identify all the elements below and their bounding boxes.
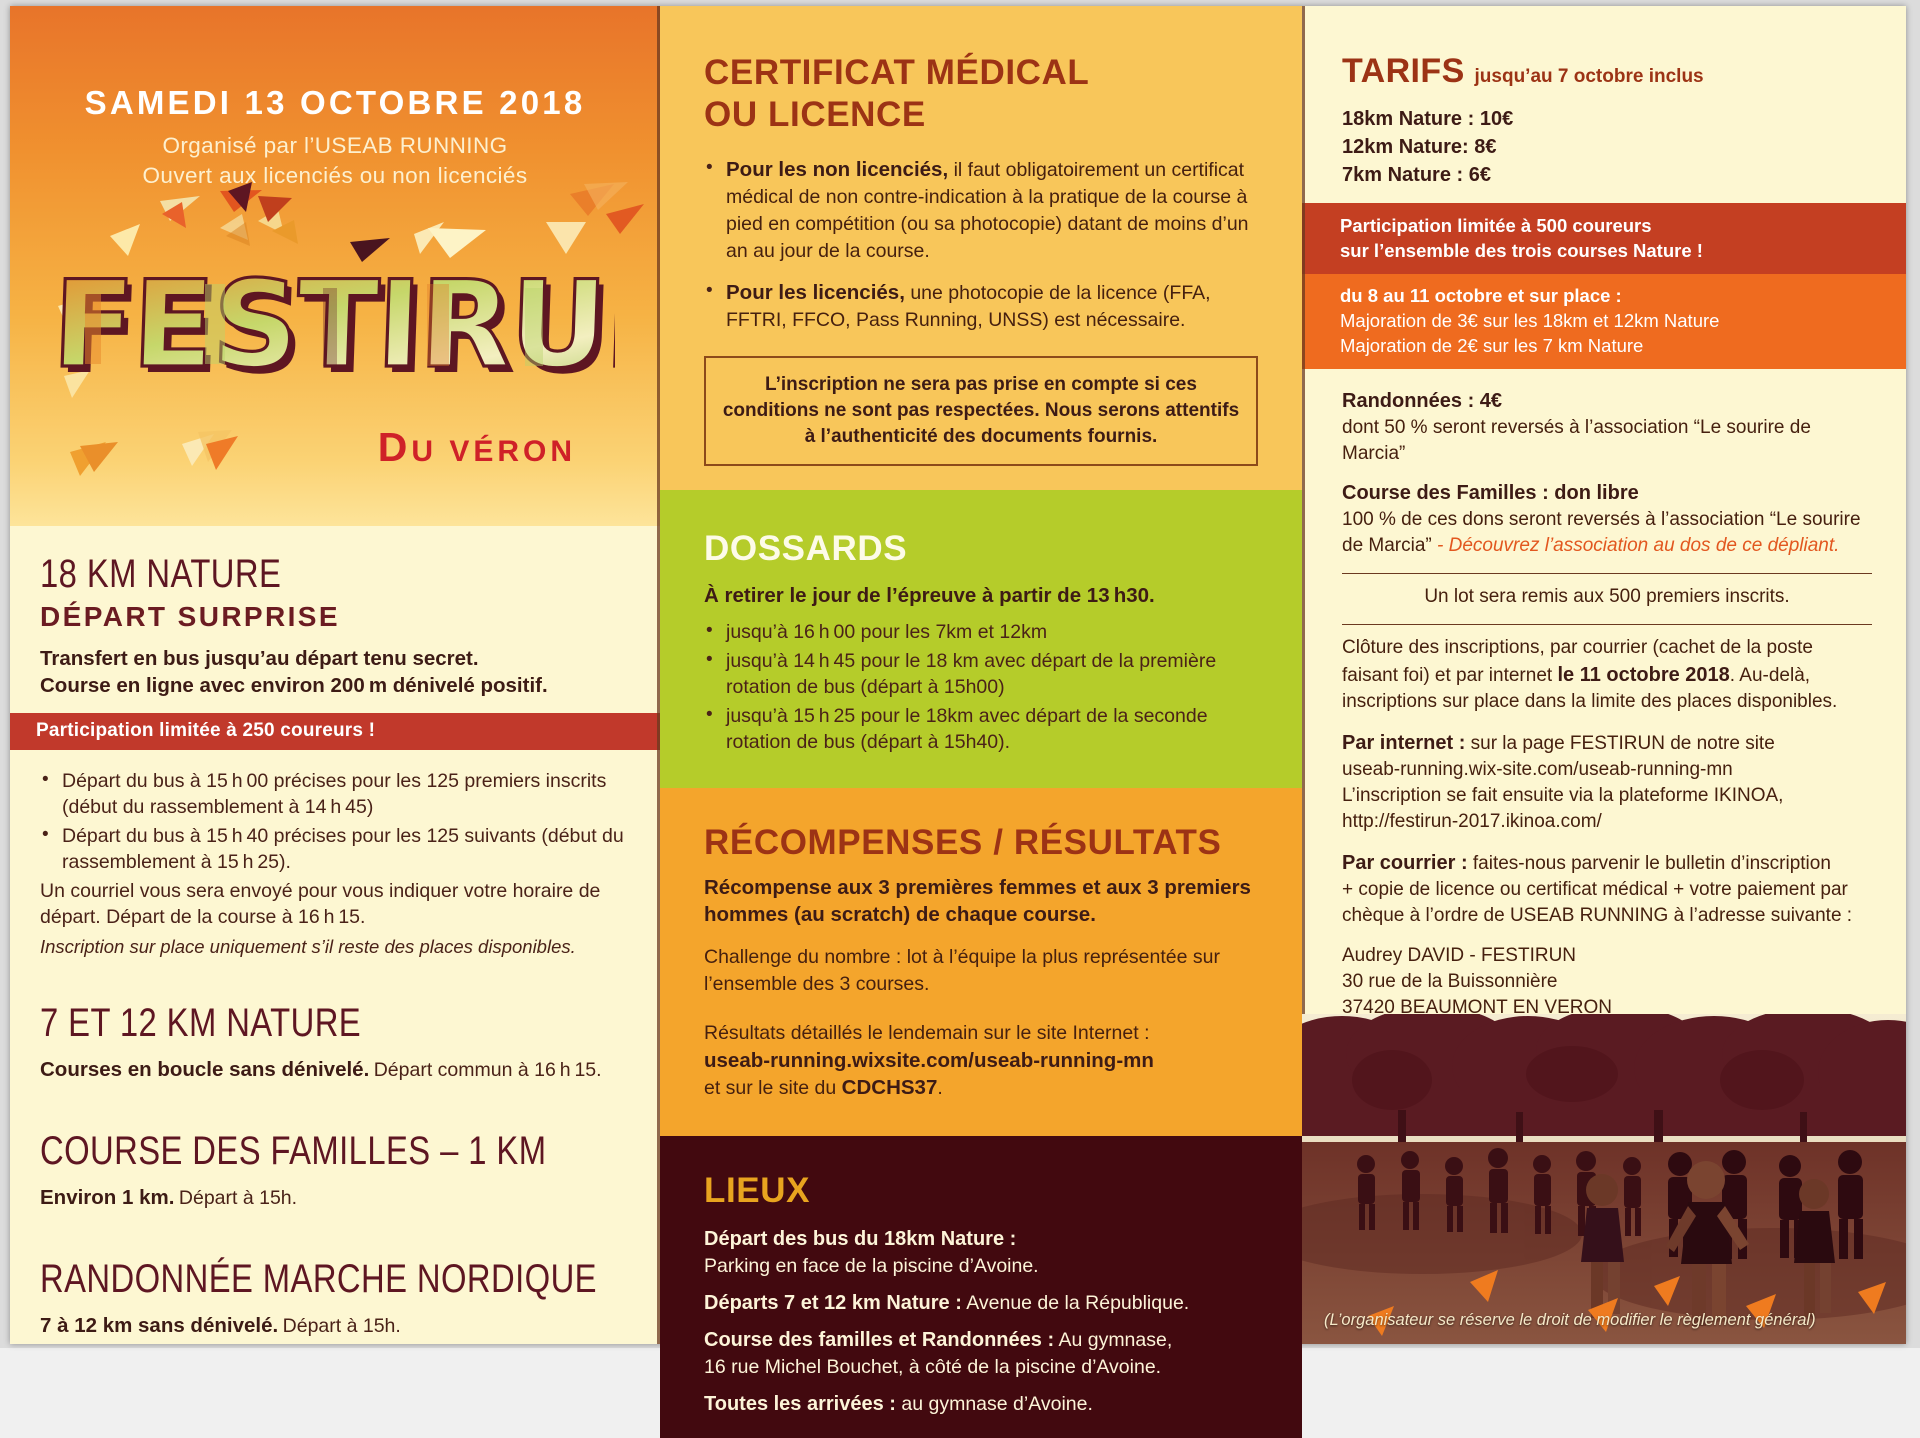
- address-name: Audrey DAVID - FESTIRUN: [1342, 943, 1872, 969]
- race-randonnee-bold: 7 à 12 km sans dénivelé.: [40, 1314, 278, 1337]
- race-title-7-12km: 7 ET 12 KM NATURE: [40, 1001, 524, 1046]
- tarifs-prices: 18km Nature : 10€ 12km Nature: 8€ 7km Na…: [1342, 105, 1868, 189]
- race-18km-italic: Inscription sur place uniquement s’il re…: [40, 934, 626, 959]
- list-item: Pour les non licenciés, il faut obligato…: [704, 156, 1258, 265]
- tarifs-title-note: jusqu’au 7 octobre inclus: [1475, 66, 1704, 87]
- majoration-line1: du 8 au 11 octobre et sur place :: [1340, 283, 1906, 308]
- lieux-2-rest: Avenue de la République.: [962, 1292, 1189, 1314]
- rando-price-note: dont 50 % seront reversés à l’associatio…: [1342, 415, 1872, 467]
- recompenses-title: RÉCOMPENSES / RÉSULTATS: [704, 822, 1258, 864]
- race-block-randonnee: RANDONNÉE MARCHE NORDIQUE 7 à 12 km sans…: [10, 1211, 660, 1339]
- race-block-familles: COURSE DES FAMILLES – 1 KM Environ 1 km.…: [10, 1083, 660, 1211]
- section-certificat-medical: CERTIFICAT MÉDICAL OU LICENCE Pour les n…: [660, 6, 1302, 490]
- race-title-randonnee: RANDONNÉE MARCHE NORDIQUE: [40, 1257, 524, 1302]
- list-item: jusqu’à 14 h 45 pour le 18 km avec dépar…: [704, 648, 1258, 700]
- lieux-4-rest: au gymnase d’Avoine.: [896, 1393, 1093, 1415]
- internet-url-1[interactable]: useab-running.wix-site.com/useab-running…: [1342, 757, 1872, 783]
- recompenses-challenge: Challenge du nombre : lot à l’équipe la …: [704, 944, 1258, 998]
- lieux-item-1: Départ des bus du 18km Nature : Parking …: [704, 1226, 1258, 1280]
- certificat-b1-lead: Pour les non licenciés,: [726, 158, 948, 181]
- majoration-band: du 8 au 11 octobre et sur place : Majora…: [1302, 274, 1906, 369]
- certificat-title-line1: CERTIFICAT MÉDICAL: [704, 53, 1089, 92]
- recompenses-tail-bold: CDCHS37: [842, 1076, 938, 1099]
- race-title-familles: COURSE DES FAMILLES – 1 KM: [40, 1129, 524, 1174]
- price-12km: 12km Nature: 8€: [1342, 133, 1868, 161]
- internet-3: L’inscription se fait ensuite via la pla…: [1342, 783, 1872, 809]
- lot-note: Un lot sera remis aux 500 premiers inscr…: [1342, 584, 1872, 610]
- price-7km: 7km Nature : 6€: [1342, 161, 1868, 189]
- race-familles-reg: Départ à 15h.: [179, 1187, 297, 1209]
- divider: [1342, 573, 1872, 574]
- price-18km: 18km Nature : 10€: [1342, 105, 1868, 133]
- courrier-1: faites-nous parvenir le bulletin d’inscr…: [1468, 853, 1831, 874]
- rando-price-bold: Randonnées : 4€: [1342, 387, 1872, 415]
- recompenses-bold: Récompense aux 3 premières femmes et aux…: [704, 874, 1258, 928]
- races-list: 18 KM NATURE DÉPART SURPRISE Transfert e…: [10, 526, 660, 1339]
- courrier-2: + copie de licence ou certificat médical…: [1342, 877, 1872, 903]
- lieux-item-3: Course des familles et Randonnées : Au g…: [704, 1327, 1258, 1381]
- lieux-4-lead: Toutes les arrivées :: [704, 1393, 896, 1415]
- dossards-lead: À retirer le jour de l’épreuve à partir …: [704, 582, 1258, 609]
- limit-500-line2: sur l’ensemble des trois courses Nature …: [1340, 238, 1906, 263]
- tarifs-title: TARIFS: [1342, 52, 1465, 90]
- recompenses-results-lead: Résultats détaillés le lendemain sur le …: [704, 1020, 1258, 1047]
- majoration-line3: Majoration de 2€ sur les 7 km Nature: [1340, 333, 1906, 358]
- certificat-title-line2: OU LICENCE: [704, 95, 926, 134]
- list-item: jusqu’à 15 h 25 pour le 18km avec départ…: [704, 703, 1258, 755]
- logo-subtitle-rest: U VÉRON: [411, 435, 576, 468]
- column-right: TARIFS jusqu’au 7 octobre inclus 18km Na…: [1302, 6, 1906, 1344]
- race-randonnee-reg: Départ à 15h.: [283, 1315, 401, 1337]
- race-18km-bullets: Départ du bus à 15 h 00 précises pour le…: [40, 768, 626, 875]
- section-dossards: DOSSARDS À retirer le jour de l’épreuve …: [660, 490, 1302, 788]
- photo-illustration: [1302, 1014, 1906, 1344]
- certificat-warning-box: L’inscription ne sera pas prise en compt…: [704, 356, 1258, 466]
- race-18km-bold-1: Transfert en bus jusqu’au départ tenu se…: [40, 645, 630, 672]
- list-item: Départ du bus à 15 h 40 précises pour le…: [40, 823, 626, 875]
- race-7-12km-bold: Courses en boucle sans dénivelé.: [40, 1058, 369, 1081]
- lieux-1-lead: Départ des bus du 18km Nature :: [704, 1228, 1016, 1250]
- list-item: Départ du bus à 15 h 00 précises pour le…: [40, 768, 626, 820]
- limit-band-500: Participation limitée à 500 coureurs sur…: [1302, 203, 1906, 274]
- address-street: 30 rue de la Buissonnière: [1342, 969, 1872, 995]
- cloture-date: le 11 octobre 2018: [1557, 664, 1729, 686]
- lieux-items: Départ des bus du 18km Nature : Parking …: [704, 1226, 1258, 1418]
- festirun-flyer: SAMEDI 13 OCTOBRE 2018 Organisé par l’US…: [10, 6, 1906, 1344]
- address-block: Audrey DAVID - FESTIRUN 30 rue de la Bui…: [1342, 943, 1872, 1021]
- race-18km-after: Un courriel vous sera envoyé pour vous i…: [40, 878, 626, 930]
- internet-1: sur la page FESTIRUN de notre site: [1465, 733, 1774, 754]
- recompenses-tail-pre: et sur le site du: [704, 1077, 842, 1099]
- courrier-3: chèque à l’ordre de USEAB RUNNING à l’ad…: [1342, 903, 1872, 929]
- dossards-bullets: jusqu’à 16 h 00 pour les 7km et 12km jus…: [704, 619, 1258, 755]
- lieux-title: LIEUX: [704, 1170, 1258, 1212]
- par-internet-block: Par internet : sur la page FESTIRUN de n…: [1342, 729, 1872, 835]
- list-item: jusqu’à 16 h 00 pour les 7km et 12km: [704, 619, 1258, 645]
- lieux-3-next: 16 rue Michel Bouchet, à côté de la pisc…: [704, 1354, 1258, 1381]
- section-lieux: LIEUX Départ des bus du 18km Nature : Pa…: [660, 1136, 1302, 1438]
- divider: [1342, 624, 1872, 625]
- list-item: Pour les licenciés, une photocopie de la…: [704, 279, 1258, 334]
- par-courrier-block: Par courrier : faites-nous parvenir le b…: [1342, 849, 1872, 929]
- brochure-page: SAMEDI 13 OCTOBRE 2018 Organisé par l’US…: [0, 0, 1920, 1348]
- lieux-1-next: Parking en face de la piscine d’Avoine.: [704, 1253, 1258, 1280]
- certificat-b2-lead: Pour les licenciés,: [726, 281, 905, 304]
- runners-photo: (L’organisateur se réserve le droit de m…: [1302, 1014, 1906, 1344]
- race-title-18km: 18 KM NATURE: [40, 552, 524, 597]
- festirun-logo: FESTIRUN FESTIRUN DU VÉRON: [10, 254, 660, 484]
- majoration-line2: Majoration de 3€ sur les 18km et 12km Na…: [1340, 308, 1906, 333]
- tarifs-block: TARIFS jusqu’au 7 octobre inclus 18km Na…: [1302, 6, 1906, 189]
- familles-note-2: de Marcia”: [1342, 535, 1432, 556]
- lieux-item-4: Toutes les arrivées : au gymnase d’Avoin…: [704, 1391, 1258, 1418]
- column-left: SAMEDI 13 OCTOBRE 2018 Organisé par l’US…: [10, 6, 660, 1344]
- limit-band-250: Participation limitée à 250 coureurs !: [10, 713, 660, 750]
- courrier-lead: Par courrier :: [1342, 852, 1468, 874]
- familles-price-bold: Course des Familles : don libre: [1342, 479, 1872, 507]
- race-block-18km: 18 KM NATURE DÉPART SURPRISE Transfert e…: [10, 526, 660, 699]
- photo-caption: (L’organisateur se réserve le droit de m…: [1324, 1311, 1816, 1330]
- hero-banner: SAMEDI 13 OCTOBRE 2018 Organisé par l’US…: [10, 6, 660, 526]
- race-18km-bold-2: Course en ligne avec environ 200 m déniv…: [40, 672, 630, 699]
- race-7-12km-reg: Départ commun à 16 h 15.: [374, 1059, 602, 1081]
- familles-note-1: 100 % de ces dons seront reversés à l’as…: [1342, 507, 1872, 533]
- lieux-item-2: Départs 7 et 12 km Nature : Avenue de la…: [704, 1290, 1258, 1317]
- recompenses-results-site[interactable]: useab-running.wixsite.com/useab-running-…: [704, 1047, 1258, 1074]
- dossards-title: DOSSARDS: [704, 528, 1258, 570]
- limit-500-line1: Participation limitée à 500 coureurs: [1340, 213, 1906, 238]
- logo-subtitle-du: D: [378, 424, 412, 470]
- column-middle: CERTIFICAT MÉDICAL OU LICENCE Pour les n…: [660, 6, 1302, 1344]
- logo-subtitle: DU VÉRON: [378, 424, 576, 471]
- internet-lead: Par internet :: [1342, 732, 1465, 754]
- fold-line-left: [657, 6, 660, 1344]
- section-recompenses: RÉCOMPENSES / RÉSULTATS Récompense aux 3…: [660, 788, 1302, 1136]
- familles-note-italic: - Découvrez l’association au dos de ce d…: [1432, 535, 1840, 556]
- internet-url-2[interactable]: http://festirun-2017.ikinoa.com/: [1342, 809, 1872, 835]
- recompenses-tail-post: .: [937, 1077, 942, 1099]
- race-subtitle-18km: DÉPART SURPRISE: [40, 601, 630, 633]
- race-familles-bold: Environ 1 km.: [40, 1186, 174, 1209]
- race-block-7-12km: 7 ET 12 KM NATURE Courses en boucle sans…: [10, 959, 660, 1083]
- lieux-2-lead: Départs 7 et 12 km Nature :: [704, 1292, 962, 1314]
- cloture-paragraph: Clôture des inscriptions, par courrier (…: [1342, 635, 1872, 715]
- certificat-bullets: Pour les non licenciés, il faut obligato…: [704, 156, 1258, 334]
